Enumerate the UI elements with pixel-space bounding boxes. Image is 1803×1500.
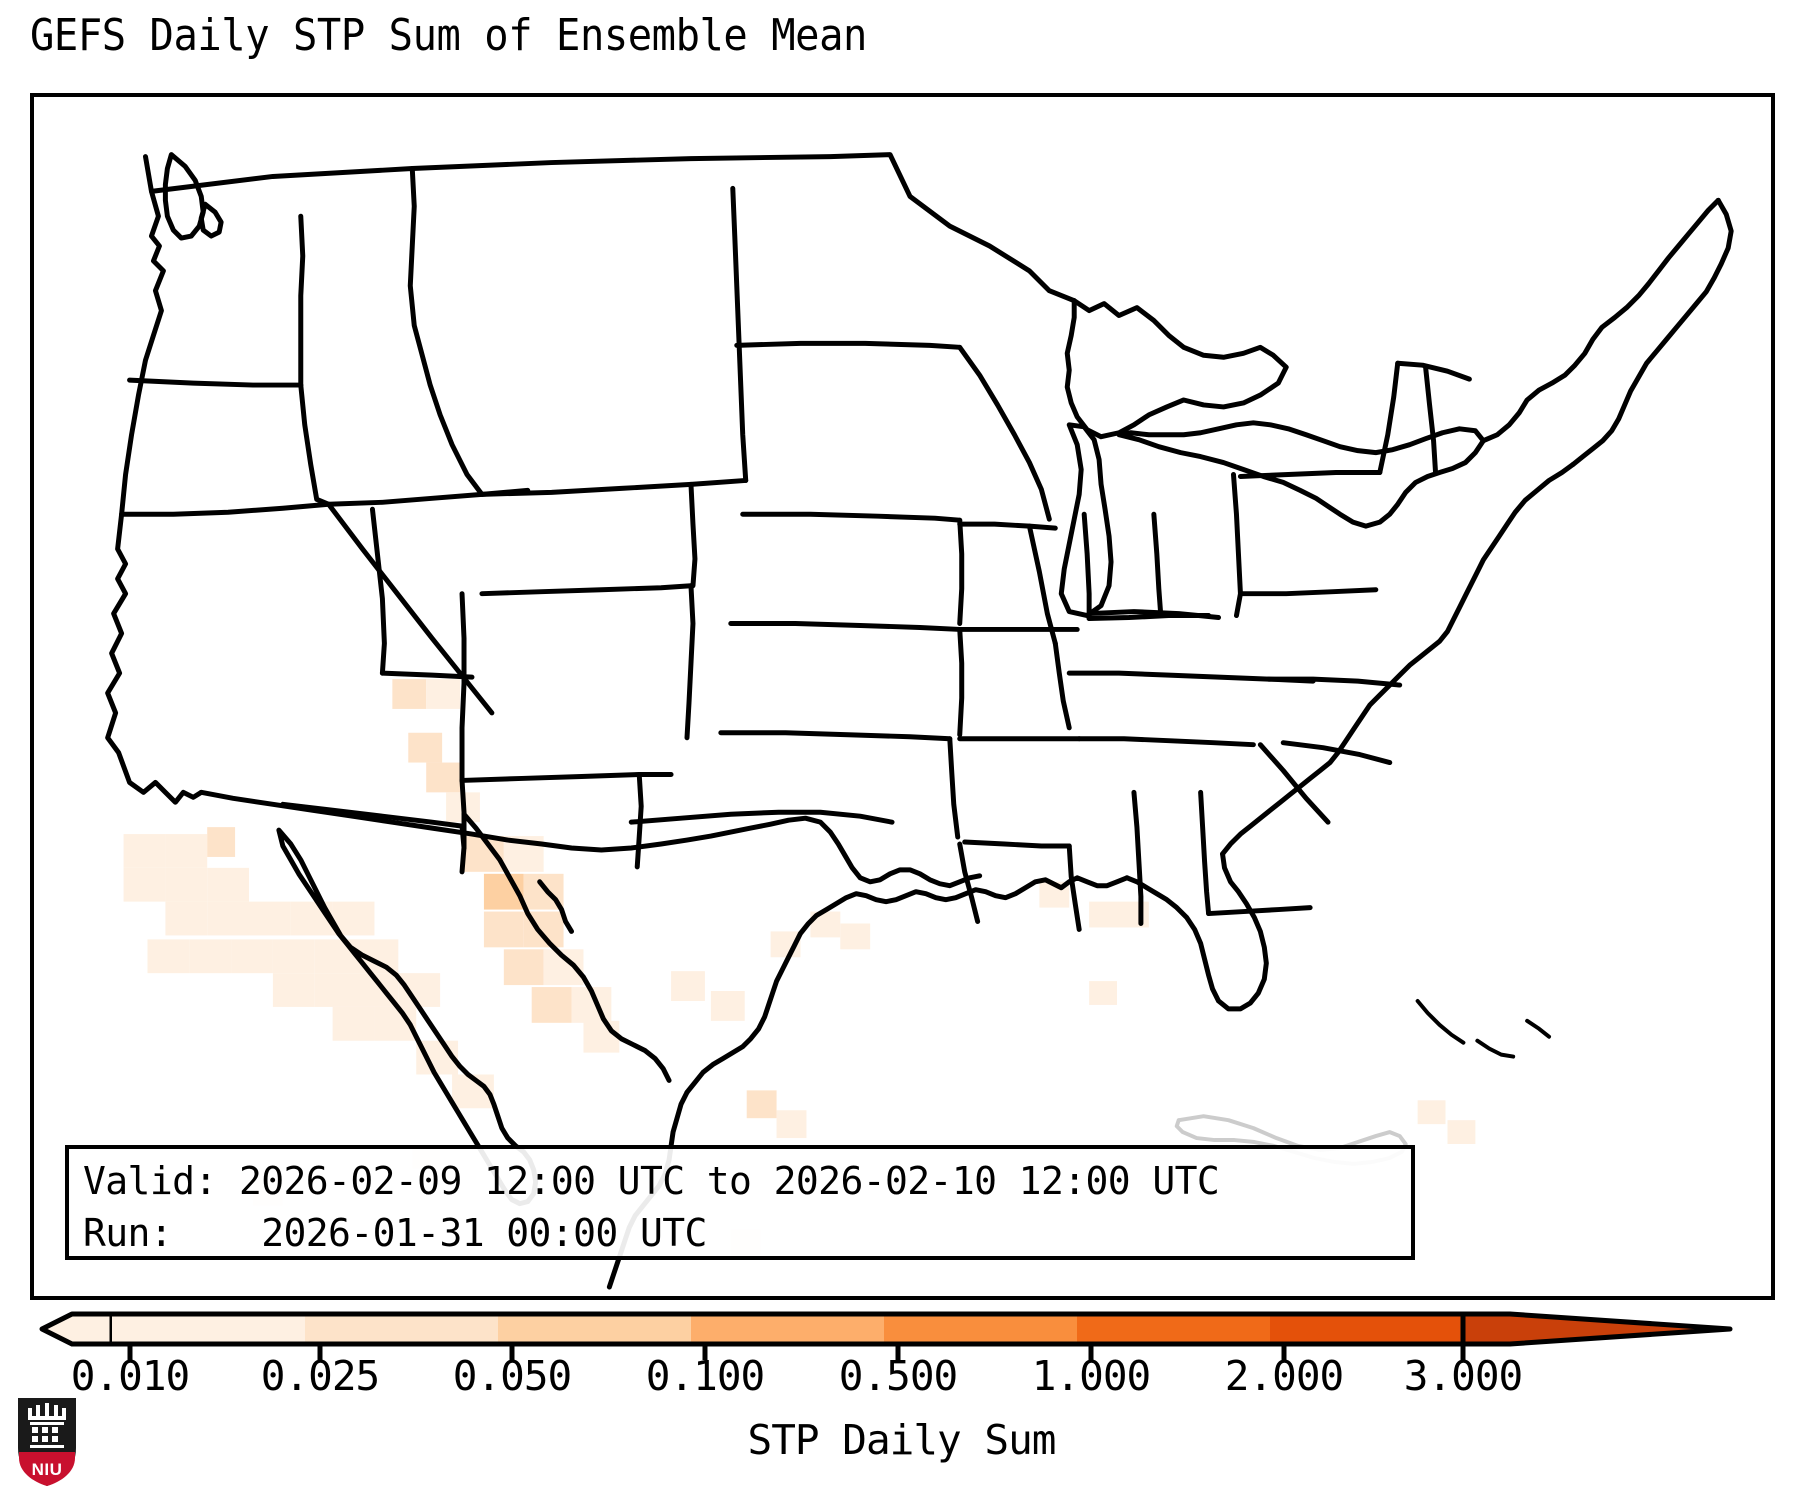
state-ut-co xyxy=(462,594,464,781)
state-il-in xyxy=(1084,514,1089,618)
coastline-florida xyxy=(1127,854,1266,1009)
colorbar-extend-max-arrow xyxy=(1463,1314,1730,1344)
vancouver-island xyxy=(165,155,203,238)
colorbar-tick-1: 0.025 xyxy=(261,1352,379,1400)
map-plot-area xyxy=(30,93,1775,1300)
colorbar-tick-5: 1.000 xyxy=(1032,1352,1150,1400)
state-la-ms xyxy=(1069,846,1079,929)
colorbar-tick-labels: 0.010 0.025 0.050 0.100 0.500 1.000 2.00… xyxy=(0,1352,1803,1412)
state-ga-fl xyxy=(1209,908,1311,914)
state-ny-vt-nh xyxy=(1380,363,1398,472)
colorbar-band-7 xyxy=(1270,1314,1463,1344)
state-nd-sd xyxy=(737,343,960,347)
state-vt-nh xyxy=(1426,367,1436,472)
state-nm-tx xyxy=(637,774,641,866)
state-nv-ut xyxy=(372,509,384,673)
colorbar-band-2 xyxy=(305,1314,498,1344)
state-sd-ne xyxy=(743,514,960,520)
state-ne-states xyxy=(1398,363,1470,379)
great-lakes-superior xyxy=(1067,301,1286,437)
colorbar-bands xyxy=(42,1314,1730,1344)
colorbar-tick-0: 0.010 xyxy=(71,1352,189,1400)
colorbar-tick-2: 0.050 xyxy=(453,1352,571,1400)
state-ks-mo xyxy=(960,629,962,734)
map-geography xyxy=(108,155,1732,1287)
map-canvas xyxy=(34,97,1771,1296)
colorbar-band-6 xyxy=(1077,1314,1270,1344)
bahamas-3 xyxy=(1527,1021,1549,1037)
state-id-mt xyxy=(410,169,482,495)
colorbar-svg[interactable] xyxy=(0,1300,1803,1360)
state-al-ga xyxy=(1201,792,1209,913)
colorbar[interactable] xyxy=(0,1300,1803,1360)
state-or-id xyxy=(301,385,329,504)
state-in-oh xyxy=(1154,514,1161,615)
colorbar-band-3 xyxy=(498,1314,691,1344)
state-mt-nd xyxy=(733,188,746,480)
state-ok-ar xyxy=(950,739,958,837)
valid-time-line: Valid: 2026-02-09 12:00 UTC to 2026-02-1… xyxy=(83,1155,1397,1207)
state-wi-il xyxy=(1029,526,1055,643)
state-ar-la xyxy=(965,842,1070,846)
state-pa-ny xyxy=(1240,472,1379,476)
state-mt-wy xyxy=(482,480,746,494)
bahamas xyxy=(1418,1001,1464,1043)
state-mi-oh-in xyxy=(1089,616,1208,619)
state-il-mo xyxy=(1055,643,1069,727)
state-mn-wi xyxy=(960,347,1050,519)
state-wy-co xyxy=(482,586,691,594)
colorbar-band-5 xyxy=(884,1314,1077,1344)
state-co-ks xyxy=(687,586,693,738)
colorbar-band-1 xyxy=(112,1314,305,1344)
coastline-pacific-nw xyxy=(108,157,202,803)
state-wy-ne xyxy=(691,484,695,585)
coastline-gulf xyxy=(687,878,1127,1093)
state-or-ca xyxy=(122,504,329,514)
state-wa-or xyxy=(130,380,301,385)
puget-islands xyxy=(201,204,221,236)
coastline-atlantic-mid xyxy=(1223,465,1573,854)
border-canada xyxy=(151,155,1074,301)
colorbar-tick-6: 2.000 xyxy=(1225,1352,1343,1400)
state-wa-id xyxy=(301,216,303,385)
colorbar-axis-label: STP Daily Sum xyxy=(0,1416,1803,1464)
colorbar-tick-4: 0.500 xyxy=(839,1352,957,1400)
bahamas-2 xyxy=(1477,1041,1513,1057)
colorbar-extend-min xyxy=(42,1314,112,1344)
run-time-line: Run: 2026-01-31 00:00 UTC xyxy=(83,1207,1397,1259)
state-nc-sc xyxy=(1283,743,1390,763)
colorbar-tick-7: 3.000 xyxy=(1404,1352,1522,1400)
niu-logo: NIU xyxy=(16,1396,78,1488)
state-tn-ms-al xyxy=(1079,739,1253,745)
state-ne-ks xyxy=(731,623,960,629)
state-ks-ok xyxy=(721,733,950,739)
state-ne-ia xyxy=(960,520,962,623)
colorbar-band-4 xyxy=(691,1314,884,1344)
state-ok-tx xyxy=(631,812,892,822)
page-title: GEFS Daily STP Sum of Ensemble Mean xyxy=(30,10,867,61)
niu-logo-text: NIU xyxy=(32,1460,63,1479)
info-box: Valid: 2026-02-09 12:00 UTC to 2026-02-1… xyxy=(65,1145,1415,1260)
state-mn-ia xyxy=(960,524,1056,528)
colorbar-tick-3: 0.100 xyxy=(646,1352,764,1400)
state-pa-md-va xyxy=(1240,590,1375,594)
